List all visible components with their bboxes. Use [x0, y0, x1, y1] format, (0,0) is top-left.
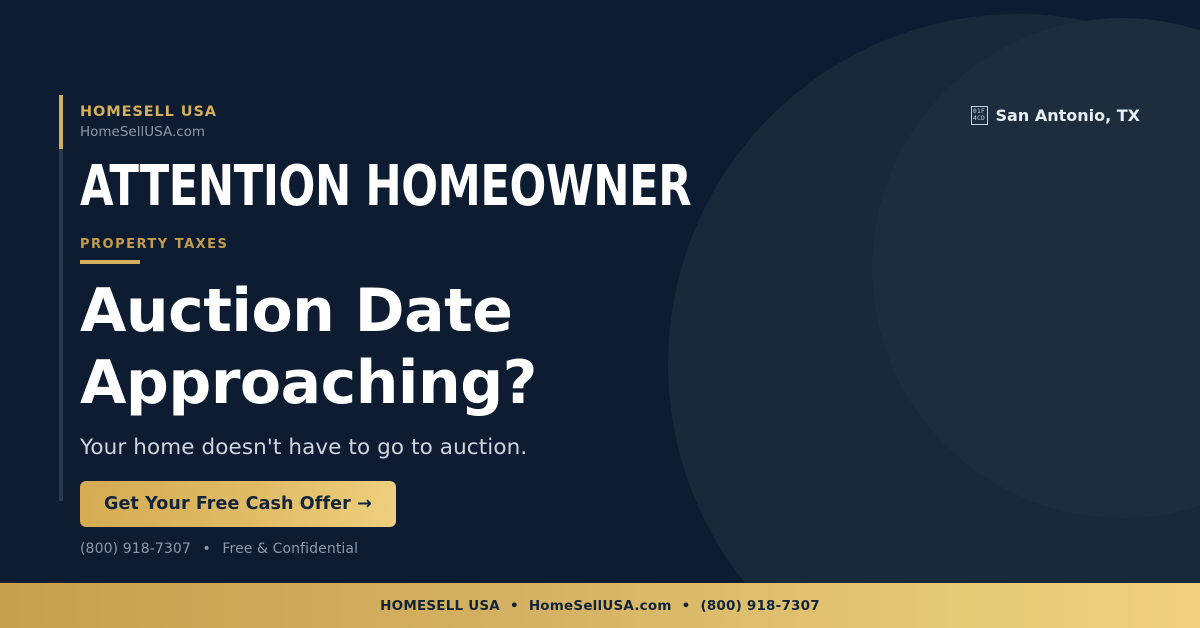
- subheadline: Your home doesn't have to go to auction.: [80, 435, 527, 460]
- location-badge: 01F 4CD San Antonio, TX: [971, 106, 1140, 125]
- location-pin-icon: 01F 4CD: [971, 106, 988, 125]
- trust-phone[interactable]: (800) 918-7307: [80, 541, 191, 557]
- left-accent-rail-gold: [59, 95, 63, 149]
- trust-separator: •: [202, 541, 210, 557]
- ad-content: HOMESELL USA HomeSellUSA.com 01F 4CD San…: [80, 0, 1120, 628]
- footer-url[interactable]: HomeSellUSA.com: [529, 598, 672, 614]
- footer-separator-two: •: [682, 598, 691, 614]
- brand-block: HOMESELL USA HomeSellUSA.com: [80, 104, 217, 140]
- brand-name: HOMESELL USA: [80, 104, 217, 121]
- footer-brand: HOMESELL USA: [380, 598, 500, 614]
- footer-separator-one: •: [510, 598, 519, 614]
- cta-free-cash-offer-button[interactable]: Get Your Free Cash Offer →: [80, 481, 396, 527]
- trust-line: (800) 918-7307 • Free & Confidential: [80, 541, 358, 557]
- footer-phone[interactable]: (800) 918-7307: [700, 598, 819, 614]
- eyebrow-label: PROPERTY TAXES: [80, 237, 228, 252]
- ad-creative: HOMESELL USA HomeSellUSA.com 01F 4CD San…: [0, 0, 1200, 628]
- location-pin-icon-codepoint-bottom: 4CD: [973, 116, 985, 123]
- location-label: San Antonio, TX: [996, 106, 1140, 125]
- left-accent-rail: [59, 95, 63, 501]
- footer-bar: HOMESELL USA • HomeSellUSA.com • (800) 9…: [0, 583, 1200, 628]
- eyebrow-underline: [80, 260, 140, 264]
- brand-row: HOMESELL USA HomeSellUSA.com 01F 4CD San…: [80, 104, 1140, 140]
- trust-note: Free & Confidential: [222, 541, 358, 557]
- attention-banner: ATTENTION HOMEOWNER: [80, 158, 691, 217]
- page-title: Auction Date Approaching?: [80, 275, 537, 419]
- brand-url: HomeSellUSA.com: [80, 125, 217, 141]
